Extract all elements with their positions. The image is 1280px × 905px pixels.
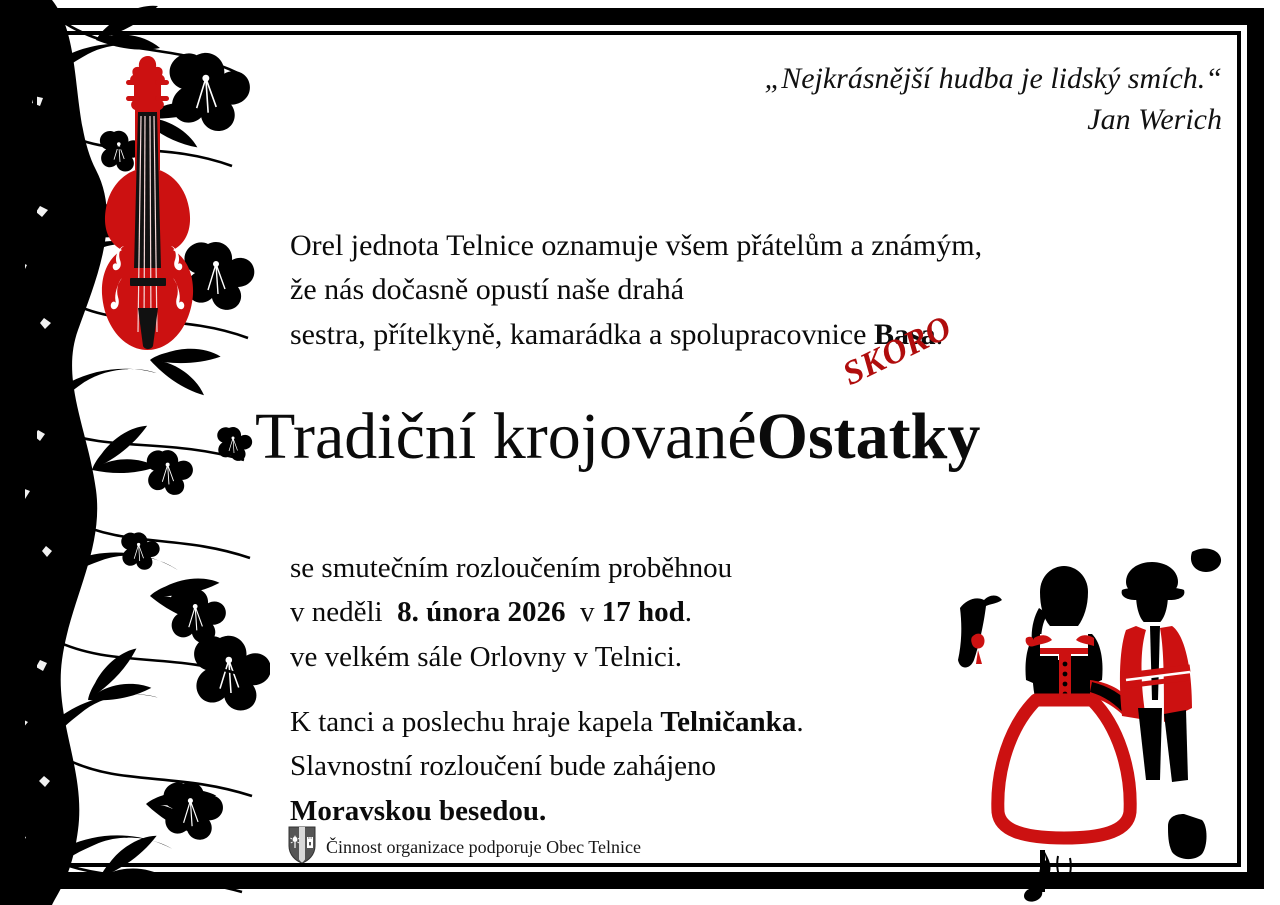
telnice-coat-of-arms-icon <box>288 826 316 869</box>
weekday-label: v neděli <box>290 596 397 628</box>
headline-light: Tradiční krojované <box>255 400 757 473</box>
closing-line-1-prefix: K tanci a poslechu hraje kapela <box>290 706 660 738</box>
details-line-2: v neděli 8. února 2026 v 17 hod. <box>290 590 1050 634</box>
time-connector: v <box>566 596 602 628</box>
floral-ornament <box>0 0 270 905</box>
details-line-2-suffix: . <box>685 596 692 628</box>
closing-line-1: K tanci a poslechu hraje kapela Telničan… <box>290 700 1050 744</box>
event-date: 8. února 2026 <box>397 596 565 628</box>
poster-canvas: „Nejkrásnější hudba je lidský smích.“ Ja… <box>0 0 1280 905</box>
intro-line-1: Orel jednota Telnice oznamuje všem přáte… <box>290 224 1190 268</box>
eighth-music-note-icon <box>1018 848 1060 904</box>
closing-block: K tanci a poslechu hraje kapela Telničan… <box>290 700 1050 833</box>
closing-line-2: Slavnostní rozloučení bude zahájeno <box>290 744 1050 788</box>
red-violin-icon <box>88 50 223 410</box>
quote-author: Jan Werich <box>522 99 1222 140</box>
sponsor-block: Činnost organizace podporuje Obec Telnic… <box>288 826 641 869</box>
quote-text: „Nejkrásnější hudba je lidský smích.“ <box>522 58 1222 99</box>
details-line-1: se smutečním rozloučením proběhnou <box>290 546 1050 590</box>
page-title: Tradiční krojovanéOstatky SKORO <box>255 404 1255 470</box>
intro-line-3-prefix: sestra, přítelkyně, kamarádka a spolupra… <box>290 318 874 351</box>
closing-line-1-suffix: . <box>796 706 803 738</box>
event-time: 17 hod <box>602 596 685 628</box>
event-venue: ve velkém sále Orlovny v Telnici. <box>290 635 1050 679</box>
intro-line-3: sestra, přítelkyně, kamarádka a spolupra… <box>290 313 1190 357</box>
intro-paragraph: Orel jednota Telnice oznamuje všem přáte… <box>290 224 1190 357</box>
event-details: se smutečním rozloučením proběhnou v ned… <box>290 546 1050 679</box>
quote-block: „Nejkrásnější hudba je lidský smích.“ Ja… <box>522 58 1222 141</box>
band-name: Telničanka <box>660 706 796 738</box>
sponsor-text: Činnost organizace podporuje Obec Telnic… <box>326 837 641 858</box>
intro-line-2: že nás dočasně opustí naše drahá <box>290 268 1190 312</box>
headline-bold: Ostatky <box>757 400 981 473</box>
